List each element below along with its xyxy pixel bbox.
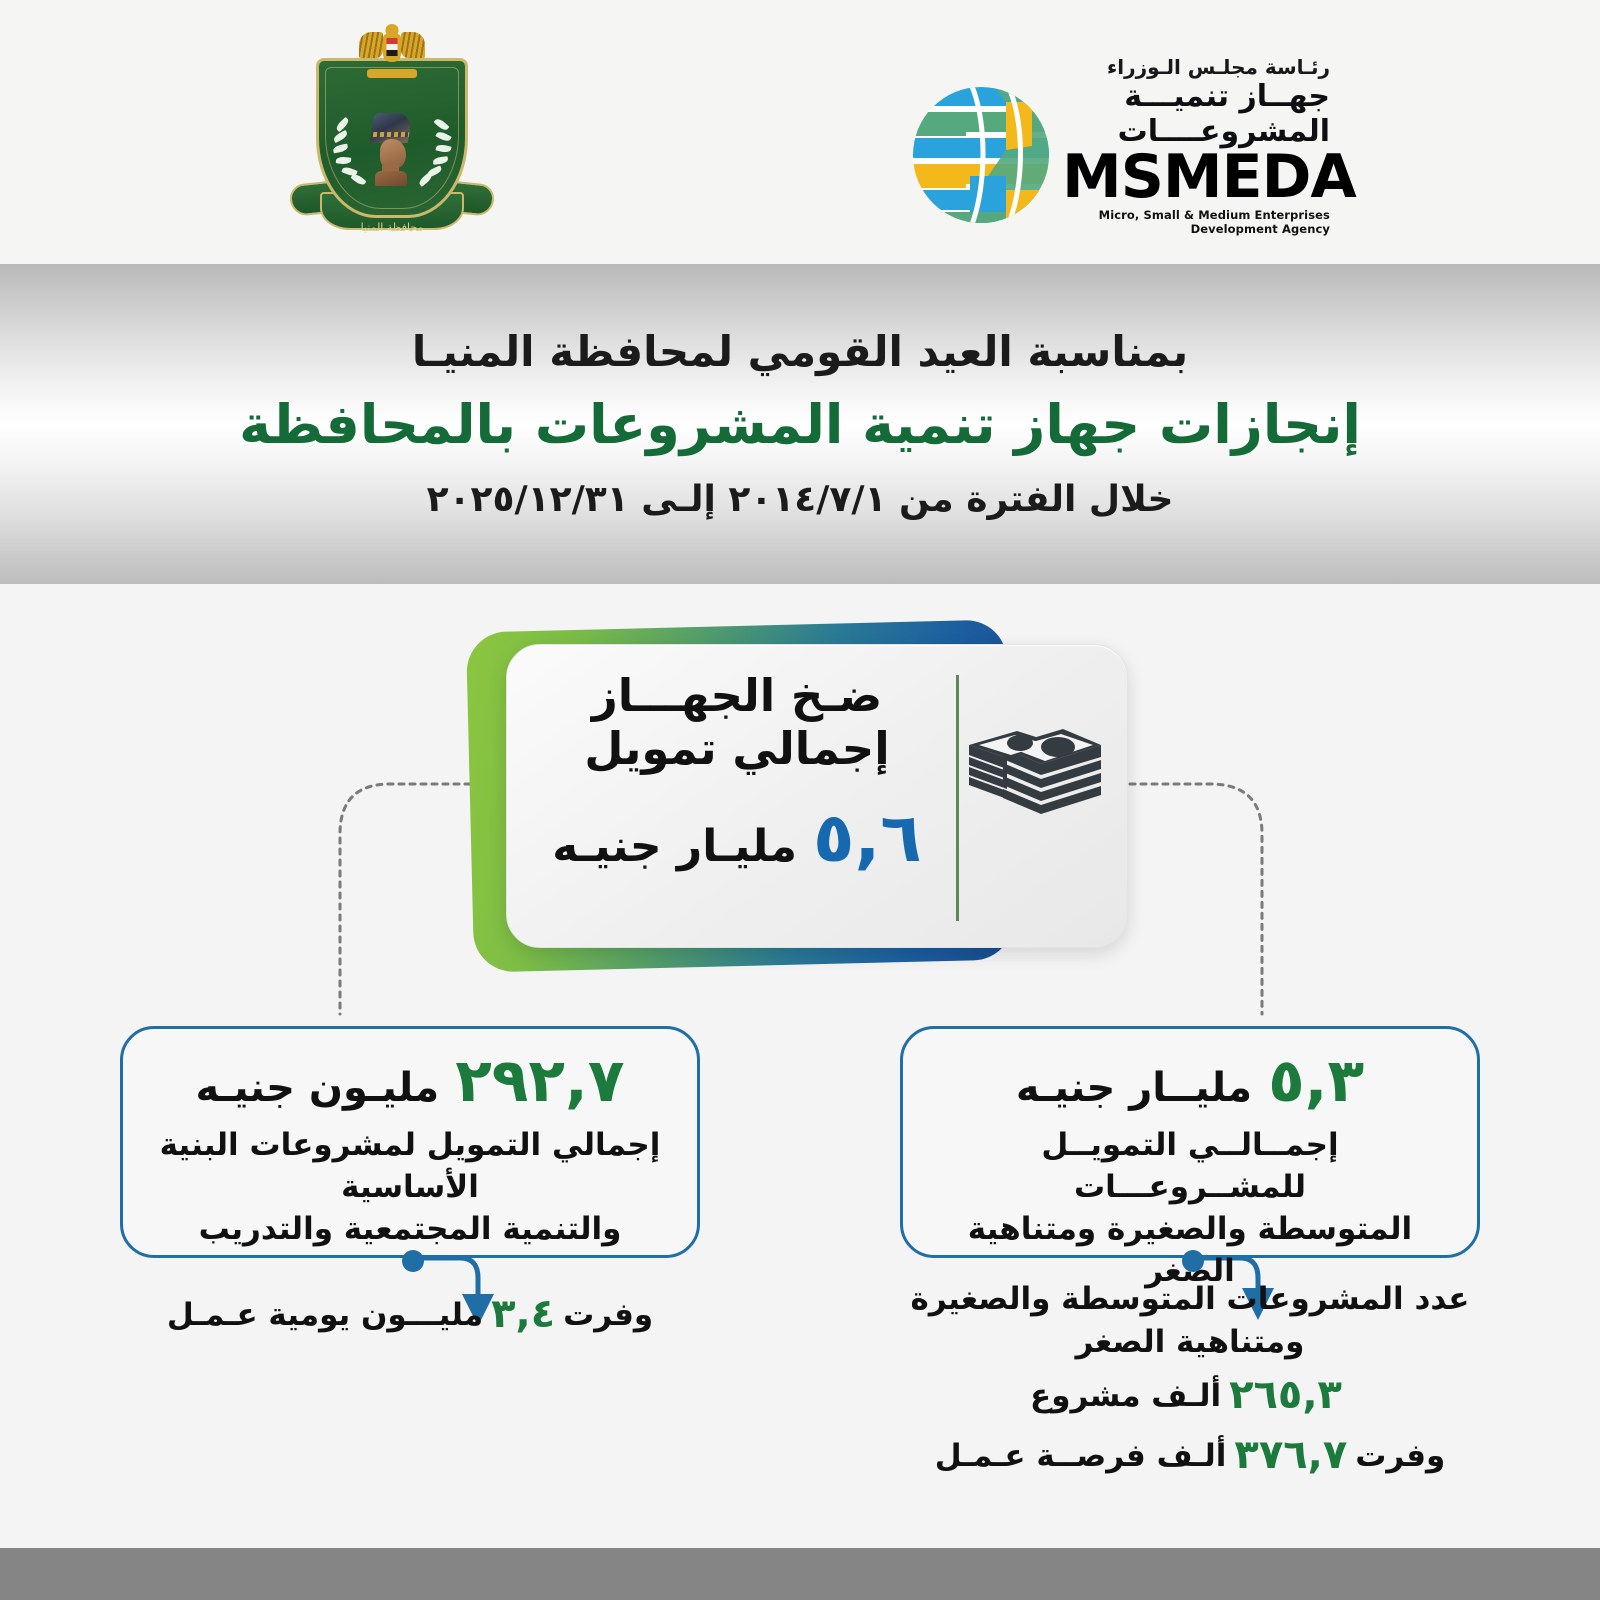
body-area: ضـخ الجهـــاز إجمالي تمويل ٥,٦ مليـار جن… [0, 584, 1600, 1524]
logo-bar: محافظة المنيا [0, 0, 1600, 264]
stat-headline: ٢٩٢,٧ مليـون جنيـه [151, 1051, 669, 1111]
footnote-line-projects: ٢٦٥,٣ألـف مشروع [880, 1365, 1500, 1425]
footnote-heading: عدد المشروعات المتوسطة والصغيرة ومتناهية… [880, 1278, 1500, 1365]
page-title: إنجازات جهاز تنمية المشروعات بالمحافظة [239, 393, 1361, 458]
footer-bar [0, 1548, 1600, 1600]
stat-description-line1: إجمالي التمويل لمشروعات البنية الأساسية [151, 1125, 669, 1209]
connector-dot [402, 1250, 424, 1272]
hero-unit: مليـار جنيـه [552, 821, 797, 872]
emblem-caption: محافظة المنيا [288, 221, 496, 234]
emblem-shield [316, 58, 468, 218]
msmeda-logo: رئـاسة مجلـس الـوزراء جهــاز تنميـــة ال… [910, 56, 1330, 244]
stat-card-msme-financing: ٥,٣ مليــار جنيـه إجمــالــي التمويــل ل… [900, 1026, 1480, 1258]
msmeda-globe-icon [910, 84, 1052, 226]
connector-dot [1182, 1250, 1204, 1272]
hero-label-line2: إجمالي تمويل [537, 722, 937, 775]
footnote-jobs-value: ٣٧٦,٧ [1226, 1432, 1355, 1478]
hero-value: ٥,٦ [813, 805, 922, 873]
hero-value-row: ٥,٦ مليـار جنيـه [537, 805, 937, 873]
footnote-daily-value: ٣,٤ [483, 1291, 563, 1337]
banknotes-icon [963, 717, 1105, 827]
infographic-page: محافظة المنيا [0, 0, 1600, 1600]
stat-card-infrastructure-financing: ٢٩٢,٧ مليـون جنيـه إجمالي التمويل لمشروع… [120, 1026, 700, 1258]
stat-unit: مليـون جنيـه [196, 1065, 440, 1111]
minya-governorate-emblem: محافظة المنيا [288, 18, 496, 250]
stat-headline: ٥,٣ مليــار جنيـه [931, 1051, 1449, 1111]
footnote-jobs-prefix: وفرت [1355, 1438, 1445, 1474]
stat-description: إجمالي التمويل لمشروعات البنية الأساسية … [151, 1125, 669, 1251]
footnote-projects-value: ٢٦٥,٣ [1221, 1372, 1350, 1418]
hero-card-text: ضـخ الجهـــاز إجمالي تمويل ٥,٦ مليـار جن… [537, 669, 937, 873]
title-period: خلال الفترة من ٢٠١٤/٧/١ إلـى ٢٠٢٥/١٢/٣١ [427, 478, 1174, 521]
footnote-jobs-unit: ألـف فرصــة عـمـل [935, 1438, 1227, 1474]
eagle-of-saladin-icon [359, 24, 425, 76]
footnote-line-daily-work: وفرت٣,٤مليـــون يومية عـمـل [110, 1284, 710, 1344]
footnote-daily-work: وفرت٣,٤مليـــون يومية عـمـل [110, 1284, 710, 1344]
msmeda-subtitle: Micro, Small & Medium Enterprises Develo… [1062, 208, 1330, 236]
hero-card-divider [956, 675, 959, 921]
hero-label-line1: ضـخ الجهـــاز [537, 669, 937, 722]
msmeda-agency-name-line1: جهــاز تنميـــة [1062, 82, 1330, 113]
footnote-daily-unit: مليـــون يومية عـمـل [167, 1297, 483, 1333]
hero-stat-card: ضـخ الجهـــاز إجمالي تمويل ٥,٦ مليـار جن… [470, 626, 1130, 982]
stat-unit: مليــار جنيـه [1016, 1065, 1252, 1111]
footnote-line-jobs: وفرت٣٧٦,٧ألـف فرصــة عـمـل [880, 1425, 1500, 1485]
footnote-daily-prefix: وفرت [563, 1297, 653, 1333]
footnote-projects-unit: ألـف مشروع [1030, 1378, 1221, 1414]
msmeda-acronym: MSMEDA [1062, 149, 1330, 206]
hero-card-surface: ضـخ الجهـــاز إجمالي تمويل ٥,٦ مليـار جن… [506, 644, 1128, 948]
stat-value: ٥,٣ [1268, 1051, 1364, 1111]
nefertiti-bust-icon [368, 113, 416, 185]
stat-value: ٢٩٢,٧ [455, 1051, 624, 1111]
title-band: بمناسبة العيد القومي لمحافظة المنيـا إنج… [0, 264, 1600, 584]
stat-description-line1: إجمــالــي التمويــل للمشــروعـــات [931, 1125, 1449, 1209]
footnote-msme-projects: عدد المشروعات المتوسطة والصغيرة ومتناهية… [880, 1278, 1500, 1485]
title-occasion: بمناسبة العيد القومي لمحافظة المنيـا [412, 327, 1188, 377]
stat-description-line2: والتنمية المجتمعية والتدريب [151, 1209, 669, 1251]
msmeda-cabinet-line: رئـاسة مجلـس الـوزراء [1062, 56, 1330, 78]
